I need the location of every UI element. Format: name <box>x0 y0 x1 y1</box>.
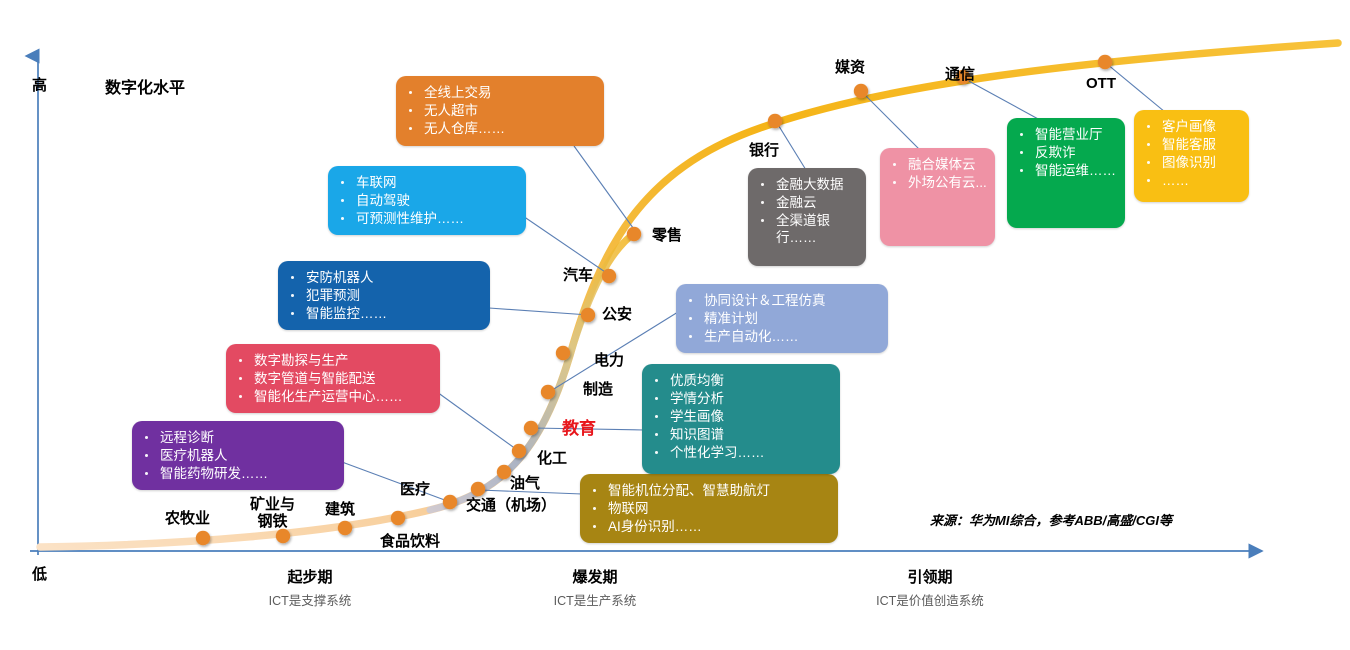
callout-healthcare[interactable]: 远程诊断医疗机器人智能药物研发…… <box>132 421 344 490</box>
industry-label-12: 汽车 <box>563 268 593 285</box>
callout-item: 安防机器人 <box>284 269 482 286</box>
callout-item: 物联网 <box>586 500 830 517</box>
callout-oil-gas[interactable]: 数字勘探与生产数字管道与智能配送智能化生产运营中心…… <box>226 344 440 413</box>
callout-item: 学生画像 <box>648 408 832 425</box>
callout-list: 车联网自动驾驶可预测性维护…… <box>334 174 518 227</box>
callout-list: 智能机位分配、智慧助航灯物联网AI身份识别…… <box>586 482 830 535</box>
connector-line-public-security <box>489 308 589 315</box>
callout-item: 全线上交易 <box>402 84 596 101</box>
connector-line-retail <box>574 146 636 232</box>
curve-node-dot[interactable] <box>391 511 405 525</box>
callout-retail[interactable]: 全线上交易无人超市无人仓库…… <box>396 76 604 146</box>
callout-item: 自动驾驶 <box>334 192 518 209</box>
curve-node-dot[interactable] <box>512 444 526 458</box>
callout-item: 反欺诈 <box>1013 144 1117 161</box>
callout-item: 远程诊断 <box>138 429 336 446</box>
industry-label-11: 公安 <box>602 307 632 324</box>
industry-label-0: 农牧业 <box>165 511 210 528</box>
callout-list: 远程诊断医疗机器人智能药物研发…… <box>138 429 336 482</box>
callout-list: 全线上交易无人超市无人仓库…… <box>402 84 596 137</box>
phase-subtitle: ICT是支撑系统 <box>235 590 385 609</box>
curve-node-dot[interactable] <box>524 421 538 435</box>
callout-item: 全渠道银行…… <box>754 212 858 246</box>
callout-item: 精准计划 <box>682 310 880 327</box>
phase-label-1: 爆发期 ICT是生产系统 <box>520 566 670 609</box>
industry-label-6: 油气 <box>510 476 540 493</box>
phase-title: 引领期 <box>830 566 1030 587</box>
callout-media[interactable]: 融合媒体云外场公有云... <box>880 148 995 246</box>
callout-item: 智能运维…… <box>1013 162 1117 179</box>
callout-bank[interactable]: 金融大数据金融云全渠道银行…… <box>748 168 866 266</box>
callout-list: 融合媒体云外场公有云... <box>886 156 987 191</box>
callout-list: 优质均衡学情分析学生画像知识图谱个性化学习…… <box>648 372 832 461</box>
callout-item: 外场公有云... <box>886 174 987 191</box>
phase-subtitle: ICT是价值创造系统 <box>830 590 1030 609</box>
axis-label-low: 低 <box>32 563 47 584</box>
industry-label-3: 食品饮料 <box>380 534 440 551</box>
callout-list: 安防机器人犯罪预测智能监控…… <box>284 269 482 322</box>
digital-maturity-s-curve-chart: 高 低 数字化水平 起步期 ICT是支撑系统 爆发期 ICT是生产系统 引领期 … <box>0 0 1350 650</box>
chart-title: 数字化水平 <box>105 74 185 98</box>
phase-title: 爆发期 <box>520 566 670 587</box>
curve-node-dot[interactable] <box>471 482 485 496</box>
callout-item: 金融大数据 <box>754 176 858 193</box>
callout-transport-airport[interactable]: 智能机位分配、智慧助航灯物联网AI身份识别…… <box>580 474 838 543</box>
callout-item: 图像识别 <box>1140 154 1241 171</box>
callout-item: 个性化学习…… <box>648 444 832 461</box>
callout-item: 智能化生产运营中心…… <box>232 388 432 405</box>
callout-ott[interactable]: 客户画像智能客服图像识别…… <box>1134 110 1249 202</box>
industry-label-8: 教育 <box>562 419 596 438</box>
phase-label-0: 起步期 ICT是支撑系统 <box>235 566 385 609</box>
industry-label-16: 通信 <box>945 67 975 84</box>
industry-label-7: 化工 <box>537 451 567 468</box>
industry-label-14: 银行 <box>749 143 779 160</box>
callout-item: 智能药物研发…… <box>138 465 336 482</box>
phase-title: 起步期 <box>235 566 385 587</box>
callout-item: AI身份识别…… <box>586 518 830 535</box>
callout-item: 学情分析 <box>648 390 832 407</box>
industry-label-9: 制造 <box>583 382 613 399</box>
curve-node-dot[interactable] <box>443 495 457 509</box>
callout-item: 知识图谱 <box>648 426 832 443</box>
source-note: 来源：华为MI综合，参考ABB/高盛/CGI等 <box>930 510 1172 529</box>
callout-list: 协同设计＆工程仿真精准计划生产自动化…… <box>682 292 880 345</box>
callout-list: 客户画像智能客服图像识别…… <box>1140 118 1241 189</box>
curve-node-dot[interactable] <box>338 521 352 535</box>
callout-item: 协同设计＆工程仿真 <box>682 292 880 309</box>
callout-item: 金融云 <box>754 194 858 211</box>
callout-item: 生产自动化…… <box>682 328 880 345</box>
callout-item: 智能监控…… <box>284 305 482 322</box>
callout-item: 车联网 <box>334 174 518 191</box>
industry-label-10: 电力 <box>594 353 624 370</box>
industry-label-2: 建筑 <box>325 502 355 519</box>
callout-item: 可预测性维护…… <box>334 210 518 227</box>
callout-item: …… <box>1140 172 1241 189</box>
callout-list: 数字勘探与生产数字管道与智能配送智能化生产运营中心…… <box>232 352 432 405</box>
industry-label-5: 交通（机场） <box>466 498 556 515</box>
callout-list: 智能营业厅反欺诈智能运维…… <box>1013 126 1117 179</box>
curve-node-dot[interactable] <box>541 385 555 399</box>
callout-education[interactable]: 优质均衡学情分析学生画像知识图谱个性化学习…… <box>642 364 840 474</box>
curve-node-dot[interactable] <box>276 529 290 543</box>
industry-label-4: 医疗 <box>400 482 430 499</box>
curve-node-dot[interactable] <box>602 269 616 283</box>
callout-item: 医疗机器人 <box>138 447 336 464</box>
curve-node-dot[interactable] <box>556 346 570 360</box>
callout-item: 无人超市 <box>402 102 596 119</box>
callout-list: 金融大数据金融云全渠道银行…… <box>754 176 858 246</box>
curve-node-dot[interactable] <box>854 84 868 98</box>
industry-label-15: 媒资 <box>835 60 865 77</box>
phase-subtitle: ICT是生产系统 <box>520 590 670 609</box>
callout-item: 智能营业厅 <box>1013 126 1117 143</box>
connector-line-bank <box>777 123 806 170</box>
connector-line-oil-gas <box>437 392 520 452</box>
curve-node-dot[interactable] <box>768 114 782 128</box>
callout-item: 无人仓库…… <box>402 120 596 137</box>
callout-item: 数字勘探与生产 <box>232 352 432 369</box>
curve-node-dot[interactable] <box>627 227 641 241</box>
industry-label-17: OTT <box>1086 76 1116 93</box>
curve-node-dot[interactable] <box>581 308 595 322</box>
curve-node-dot[interactable] <box>196 531 210 545</box>
callout-item: 客户画像 <box>1140 118 1241 135</box>
callout-item: 智能客服 <box>1140 136 1241 153</box>
connector-line-telecom <box>965 79 1040 120</box>
callout-public-security[interactable]: 安防机器人犯罪预测智能监控…… <box>278 261 490 330</box>
callout-item: 融合媒体云 <box>886 156 987 173</box>
callout-item: 犯罪预测 <box>284 287 482 304</box>
callout-item: 智能机位分配、智慧助航灯 <box>586 482 830 499</box>
industry-label-13: 零售 <box>652 228 682 245</box>
callout-telecom[interactable]: 智能营业厅反欺诈智能运维…… <box>1007 118 1125 228</box>
callout-automotive[interactable]: 车联网自动驾驶可预测性维护…… <box>328 166 526 235</box>
chart-canvas <box>0 0 1350 650</box>
axis-label-high: 高 <box>32 74 47 95</box>
phase-label-2: 引领期 ICT是价值创造系统 <box>830 566 1030 609</box>
industry-label-1: 矿业与钢铁 <box>250 497 295 531</box>
callout-item: 数字管道与智能配送 <box>232 370 432 387</box>
curve-node-dot[interactable] <box>1098 55 1112 69</box>
connector-line-healthcare <box>342 462 450 502</box>
callout-item: 优质均衡 <box>648 372 832 389</box>
connector-line-media <box>863 93 920 150</box>
callout-manufacturing[interactable]: 协同设计＆工程仿真精准计划生产自动化…… <box>676 284 888 353</box>
